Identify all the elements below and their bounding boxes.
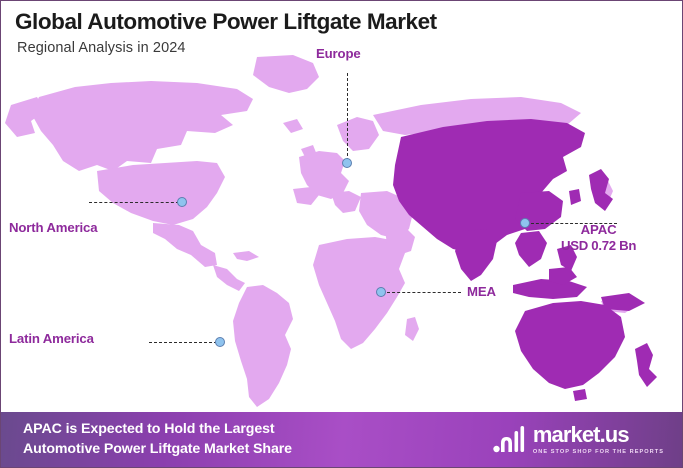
callout-label-apac: APAC — [581, 222, 617, 237]
region-caribbean — [233, 251, 259, 261]
page-title: Global Automotive Power Liftgate Market — [1, 9, 683, 36]
region-south-america — [233, 285, 293, 407]
region-indochina — [515, 231, 547, 267]
leader-line-mea — [387, 292, 461, 293]
region-australia — [515, 301, 625, 389]
region-usa — [97, 161, 225, 225]
callout-latin-america: Latin America — [9, 331, 94, 347]
callout-north-america: North America — [9, 220, 97, 236]
region-korea — [569, 189, 581, 205]
bar-chart-icon — [492, 425, 526, 455]
banner-headline: APAC is Expected to Hold the Largest Aut… — [23, 420, 292, 459]
callout-label-mea: MEA — [467, 284, 496, 299]
callout-label-europe: Europe — [316, 46, 361, 61]
region-new-zealand — [635, 343, 657, 387]
logo-wordmark: market.us — [533, 424, 664, 446]
banner-headline-line1: APAC is Expected to Hold the Largest — [23, 420, 292, 440]
marker-north-america — [177, 197, 187, 207]
region-scandinavia — [337, 117, 379, 151]
region-italy-balkans — [331, 191, 361, 213]
region-greenland — [253, 55, 319, 93]
callout-label-latin-america: Latin America — [9, 331, 94, 346]
callout-label-north-america: North America — [9, 220, 97, 235]
region-mexico — [153, 223, 217, 267]
logo-tagline: ONE STOP SHOP FOR THE REPORTS — [533, 449, 664, 455]
marker-apac — [520, 218, 530, 228]
callout-apac: APAC USD 0.72 Bn — [561, 222, 636, 254]
region-tasmania — [573, 389, 587, 401]
region-canada — [31, 81, 253, 171]
bottom-banner: APAC is Expected to Hold the Largest Aut… — [1, 412, 683, 467]
callout-europe: Europe — [316, 46, 361, 62]
brand-logo[interactable]: market.us ONE STOP SHOP FOR THE REPORTS — [492, 424, 670, 455]
region-india — [455, 229, 497, 281]
infographic-root: Global Automotive Power Liftgate Market … — [0, 0, 683, 468]
marker-latin-america — [215, 337, 225, 347]
region-madagascar — [405, 317, 419, 341]
marker-mea — [376, 287, 386, 297]
region-indonesia — [513, 279, 587, 299]
banner-headline-line2: Automotive Power Liftgate Market Share — [23, 440, 292, 460]
callout-mea: MEA — [467, 284, 496, 300]
leader-line-europe — [347, 73, 348, 161]
leader-line-north-america — [89, 202, 179, 203]
callout-value-apac: USD 0.72 Bn — [561, 238, 636, 254]
region-iceland — [283, 119, 303, 133]
leader-line-latin-america — [149, 342, 217, 343]
logo-text: market.us ONE STOP SHOP FOR THE REPORTS — [533, 424, 664, 455]
map-highlight-regions-apac — [393, 119, 657, 401]
region-central-america — [213, 265, 245, 291]
region-africa — [313, 237, 405, 349]
marker-europe — [342, 158, 352, 168]
